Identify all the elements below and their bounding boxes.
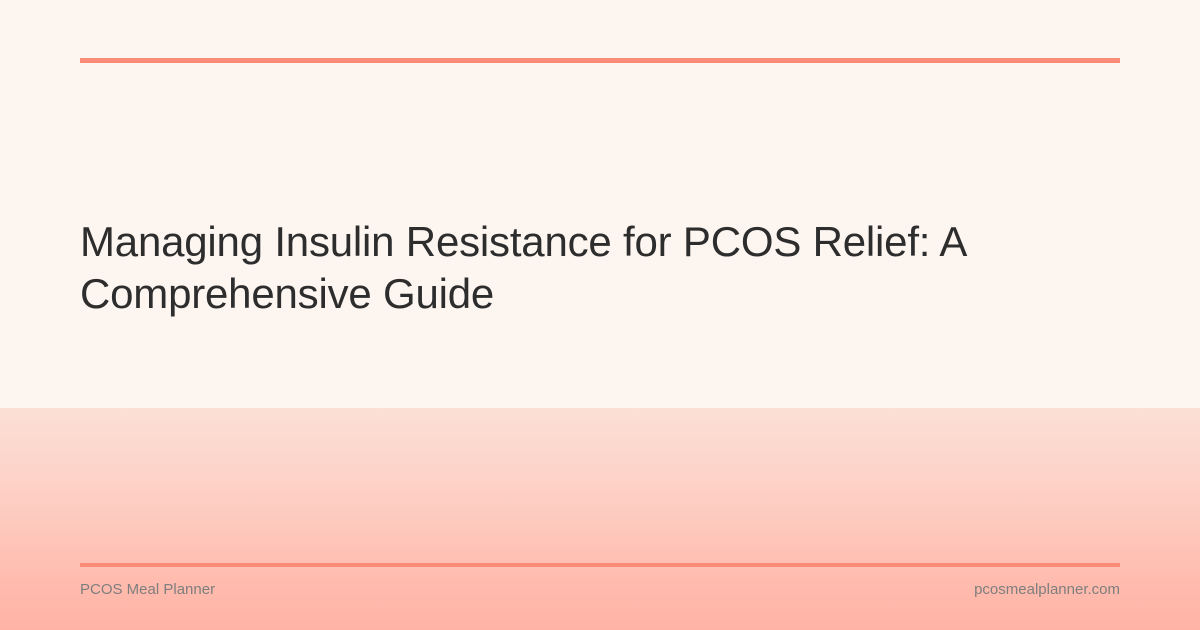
share-card: Managing Insulin Resistance for PCOS Rel…	[0, 0, 1200, 630]
headline-block: Managing Insulin Resistance for PCOS Rel…	[80, 216, 1060, 320]
footer-divider-rule	[80, 563, 1120, 567]
top-accent-rule	[80, 58, 1120, 63]
footer-brand-name: PCOS Meal Planner	[80, 580, 215, 600]
footer: PCOS Meal Planner pcosmealplanner.com	[80, 580, 1120, 600]
page-title: Managing Insulin Resistance for PCOS Rel…	[80, 216, 1060, 320]
footer-domain: pcosmealplanner.com	[974, 580, 1120, 600]
